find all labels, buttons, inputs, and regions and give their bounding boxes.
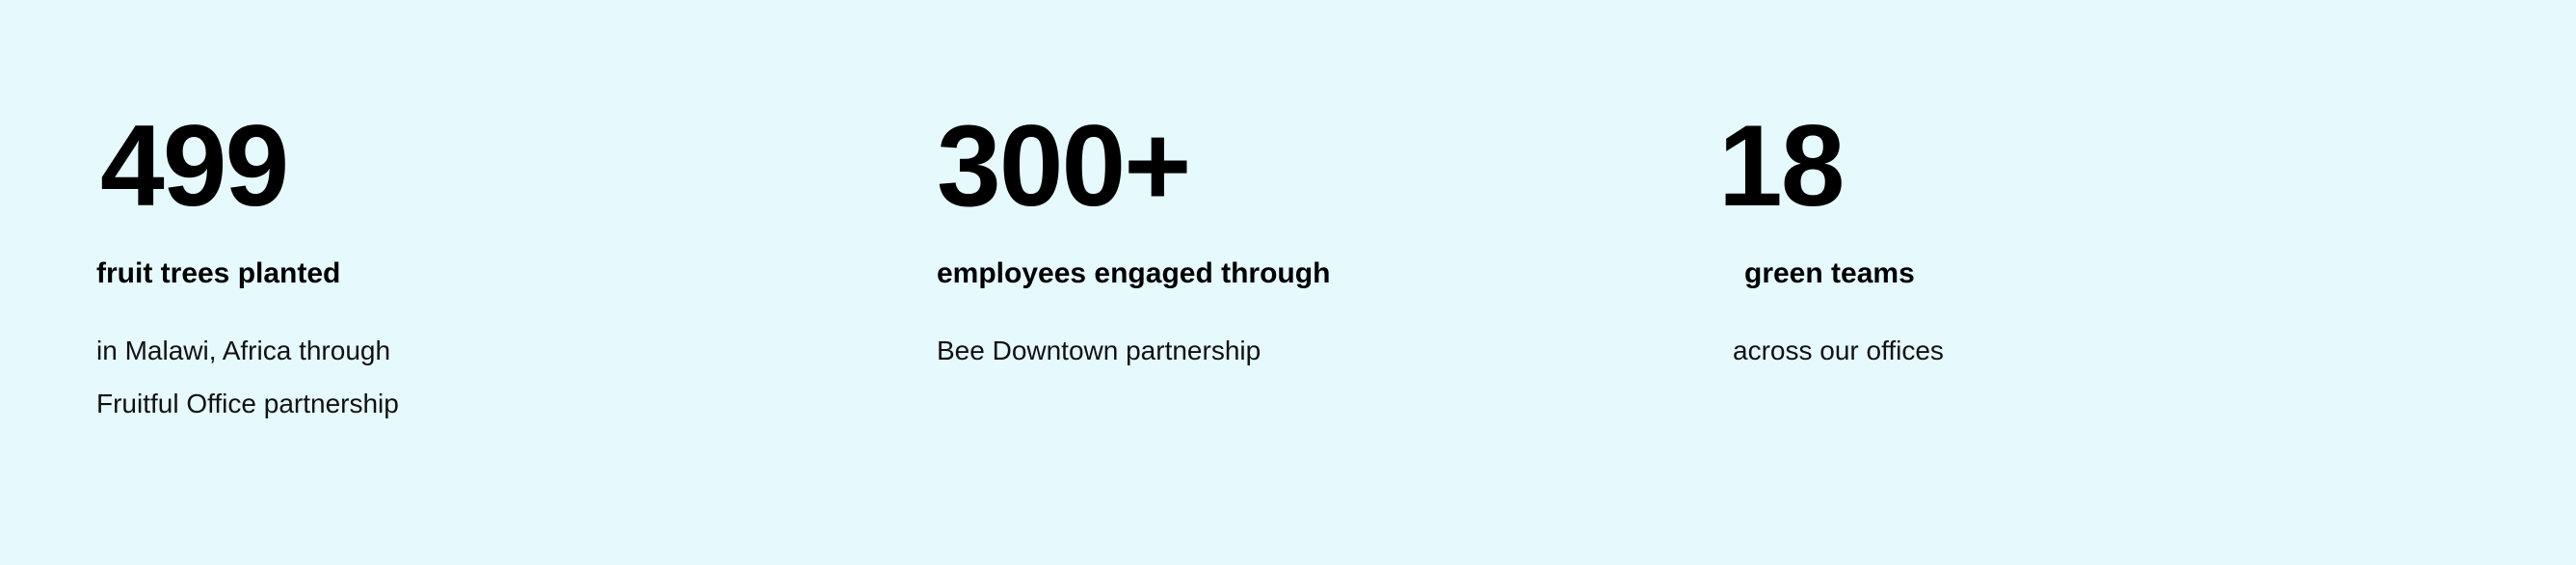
stat-description: in Malawi, Africa through Fruitful Offic… [96,324,414,430]
stat-label: green teams [1744,257,2393,289]
stat-description: across our offices [1733,324,2234,377]
impact-stats-band: 499 fruit trees planted in Malawi, Afric… [0,0,2576,565]
stat-card-fruit-trees: 499 fruit trees planted in Malawi, Afric… [96,0,829,430]
stat-label: fruit trees planted [96,257,829,289]
stat-card-green-teams: 18 green teams across our offices [1718,0,2393,377]
stat-description: Bee Downtown partnership [937,324,1438,377]
stat-card-employees-engaged: 300+ employees engaged through Bee Downt… [937,0,1611,377]
stat-label: employees engaged through [937,257,1611,289]
stat-value: 300+ [937,108,1611,224]
stat-value: 499 [100,108,829,224]
stat-value: 18 [1718,108,2393,224]
